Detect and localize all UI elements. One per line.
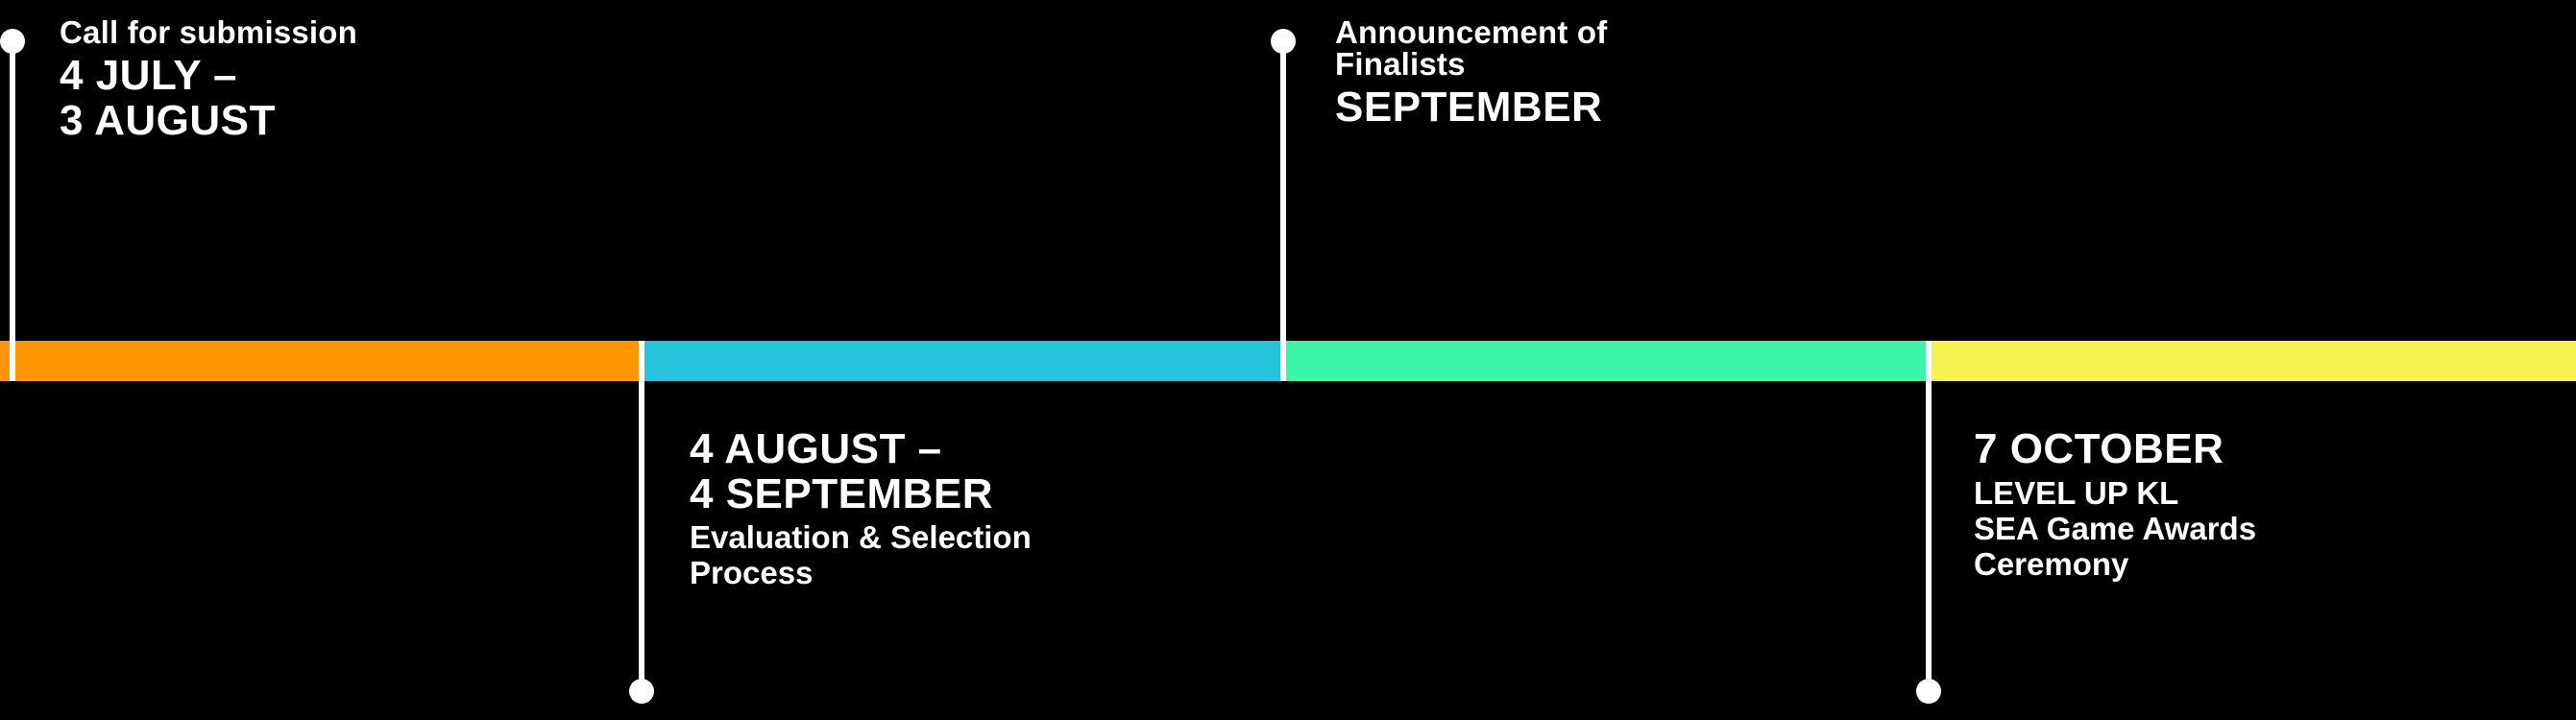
event-label-line-1: Announcement of xyxy=(1335,16,1607,48)
marker-dot xyxy=(1271,29,1296,54)
marker-dot xyxy=(1916,679,1941,704)
event-subtitle: Evaluation & Selection Process xyxy=(690,520,1032,591)
marker-dot xyxy=(629,679,654,704)
event-date-line-1: SEPTEMBER xyxy=(1335,85,1607,131)
event-subtitle-line-1: Evaluation & Selection xyxy=(690,520,1032,556)
marker-stem xyxy=(10,41,15,381)
marker-stem xyxy=(1926,341,1932,691)
event-evaluation-selection: 4 AUGUST – 4 SEPTEMBER Evaluation & Sele… xyxy=(690,427,1032,591)
event-date: 4 AUGUST – 4 SEPTEMBER xyxy=(690,427,1032,516)
event-subtitle-line-1: LEVEL UP KL xyxy=(1974,476,2256,512)
event-date: 7 OCTOBER xyxy=(1974,427,2256,472)
event-date-line-1: 4 JULY – xyxy=(60,54,357,99)
event-date-line-2: 4 SEPTEMBER xyxy=(690,472,1032,517)
event-subtitle-line-3: Ceremony xyxy=(1974,547,2256,583)
marker-stem xyxy=(1280,41,1286,381)
marker-dot xyxy=(0,29,25,54)
event-subtitle: LEVEL UP KL SEA Game Awards Ceremony xyxy=(1974,476,2256,583)
event-subtitle-line-2: Process xyxy=(690,556,1032,591)
event-date-line-2: 3 AUGUST xyxy=(60,99,357,144)
event-label-line-2: Finalists xyxy=(1335,48,1607,80)
bar-segment-announcement-finalists xyxy=(1280,341,1926,381)
event-subtitle-line-2: SEA Game Awards xyxy=(1974,512,2256,547)
event-date-line-1: 4 AUGUST – xyxy=(690,427,1032,472)
event-date-line-1: 7 OCTOBER xyxy=(1974,427,2256,472)
timeline-bar xyxy=(0,341,2576,381)
event-call-for-submission: Call for submission 4 JULY – 3 AUGUST xyxy=(60,16,357,143)
event-date: 4 JULY – 3 AUGUST xyxy=(60,54,357,143)
bar-segment-evaluation-selection xyxy=(639,341,1280,381)
event-label: Announcement of Finalists xyxy=(1335,16,1607,80)
event-label: Call for submission xyxy=(60,16,357,48)
bar-segment-awards-ceremony xyxy=(1926,341,2576,381)
timeline-infographic: Call for submission 4 JULY – 3 AUGUST 4 … xyxy=(0,0,2576,720)
marker-stem xyxy=(639,341,644,691)
event-announcement-of-finalists: Announcement of Finalists SEPTEMBER xyxy=(1335,16,1607,131)
event-awards-ceremony: 7 OCTOBER LEVEL UP KL SEA Game Awards Ce… xyxy=(1974,427,2256,582)
bar-segment-call-for-submission xyxy=(0,341,639,381)
event-date: SEPTEMBER xyxy=(1335,85,1607,131)
